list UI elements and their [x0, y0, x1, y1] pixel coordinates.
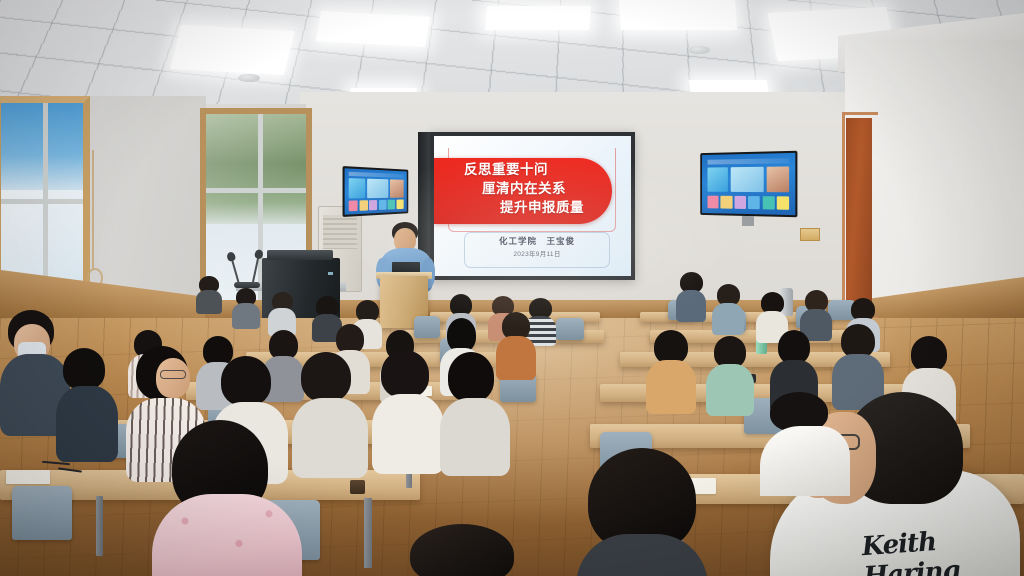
tv-screen-right	[702, 153, 795, 215]
slide-title-line-1: 反思重要十问	[442, 160, 622, 179]
window-mullion	[1, 199, 83, 204]
attendee-torso	[706, 364, 754, 416]
tv-app-tiles	[349, 200, 404, 211]
attendee	[232, 288, 260, 328]
attendee	[56, 348, 118, 458]
attendee-front-center	[404, 524, 520, 576]
smoke-detector-icon	[238, 74, 260, 82]
attendee-torso	[576, 534, 708, 576]
attendee	[712, 284, 744, 332]
attendee-hair	[448, 352, 494, 402]
slide-date: 2023年9月11日	[464, 248, 610, 258]
slide-title-line-3: 提升申报质量	[442, 198, 622, 217]
attendee-front-left	[152, 420, 302, 576]
attendee-hair	[778, 330, 810, 364]
tv-top-bar	[707, 158, 789, 164]
attendee-torso	[196, 290, 222, 314]
ceiling-light-panel	[316, 11, 430, 47]
tv-app-tiles	[707, 196, 789, 210]
attendee-hair	[63, 348, 105, 390]
chair	[12, 486, 72, 540]
ceiling-light-panel	[485, 6, 591, 30]
slide-title-line-2: 厘清内在关系	[442, 179, 622, 198]
projection-screen: 反思重要十问 厘清内在关系 提升申报质量 化工学院 王宝俊 2023年9月11日	[430, 132, 635, 280]
chair	[556, 318, 584, 340]
tv-hero-tiles	[349, 179, 404, 198]
attendee-torso	[372, 394, 444, 474]
attendee	[646, 330, 696, 410]
tea-cup	[350, 480, 365, 494]
status-led	[328, 272, 333, 275]
attendee-torso	[152, 494, 302, 576]
classroom-photo: 反思重要十问 厘清内在关系 提升申报质量 化工学院 王宝俊 2023年9月11日	[0, 0, 1024, 576]
eyeglasses-icon	[160, 370, 186, 379]
smoke-detector-icon	[688, 46, 710, 54]
attendee	[268, 292, 296, 334]
tv-top-bar	[349, 172, 404, 178]
attendee-torso	[646, 360, 696, 414]
window-blind	[1, 103, 83, 190]
window-mullion	[206, 188, 306, 193]
attendee	[760, 392, 850, 488]
ceiling-light-panel	[619, 0, 737, 30]
attendee	[196, 276, 222, 312]
attendee-front-right	[576, 448, 708, 576]
attendee-torso	[760, 426, 850, 496]
blind-cord[interactable]	[92, 150, 94, 270]
attendee	[372, 350, 444, 470]
desk-leg	[364, 498, 372, 568]
attendee	[440, 352, 510, 470]
slide-title-block: 反思重要十问 厘清内在关系 提升申报质量	[442, 160, 622, 217]
attendee-hair	[447, 318, 476, 352]
attendee-hair	[410, 524, 514, 576]
attendee-hair	[301, 352, 351, 402]
side-door[interactable]	[846, 118, 872, 318]
attendee	[676, 272, 706, 320]
tv-wall-mount	[742, 216, 754, 226]
ceiling-light-panel	[170, 25, 294, 75]
door-sign	[800, 228, 820, 241]
desk-leg	[96, 496, 103, 556]
presentation-slide: 反思重要十问 厘清内在关系 提升申报质量 化工学院 王宝俊 2023年9月11日	[434, 136, 631, 276]
attendee-hair	[221, 356, 271, 406]
attendee-torso	[232, 303, 260, 329]
wall-tv-left	[343, 166, 409, 217]
tv-screen-left	[345, 168, 407, 214]
attendee-torso	[676, 290, 706, 322]
attendee-hair	[654, 330, 688, 364]
paper-sheet	[6, 470, 50, 484]
attendee-torso	[712, 303, 744, 335]
wall-tv-right	[700, 151, 797, 218]
attendee	[706, 336, 754, 414]
attendee-hair	[911, 336, 947, 372]
slide-affiliation: 化工学院 王宝俊	[464, 235, 610, 247]
attendee	[292, 352, 368, 474]
attendee-hair	[381, 350, 429, 398]
attendee-hair	[841, 324, 875, 358]
attendee-torso	[292, 398, 368, 478]
attendee-torso	[440, 398, 510, 476]
tv-hero-tiles	[707, 167, 789, 193]
attendee-torso	[56, 386, 118, 462]
